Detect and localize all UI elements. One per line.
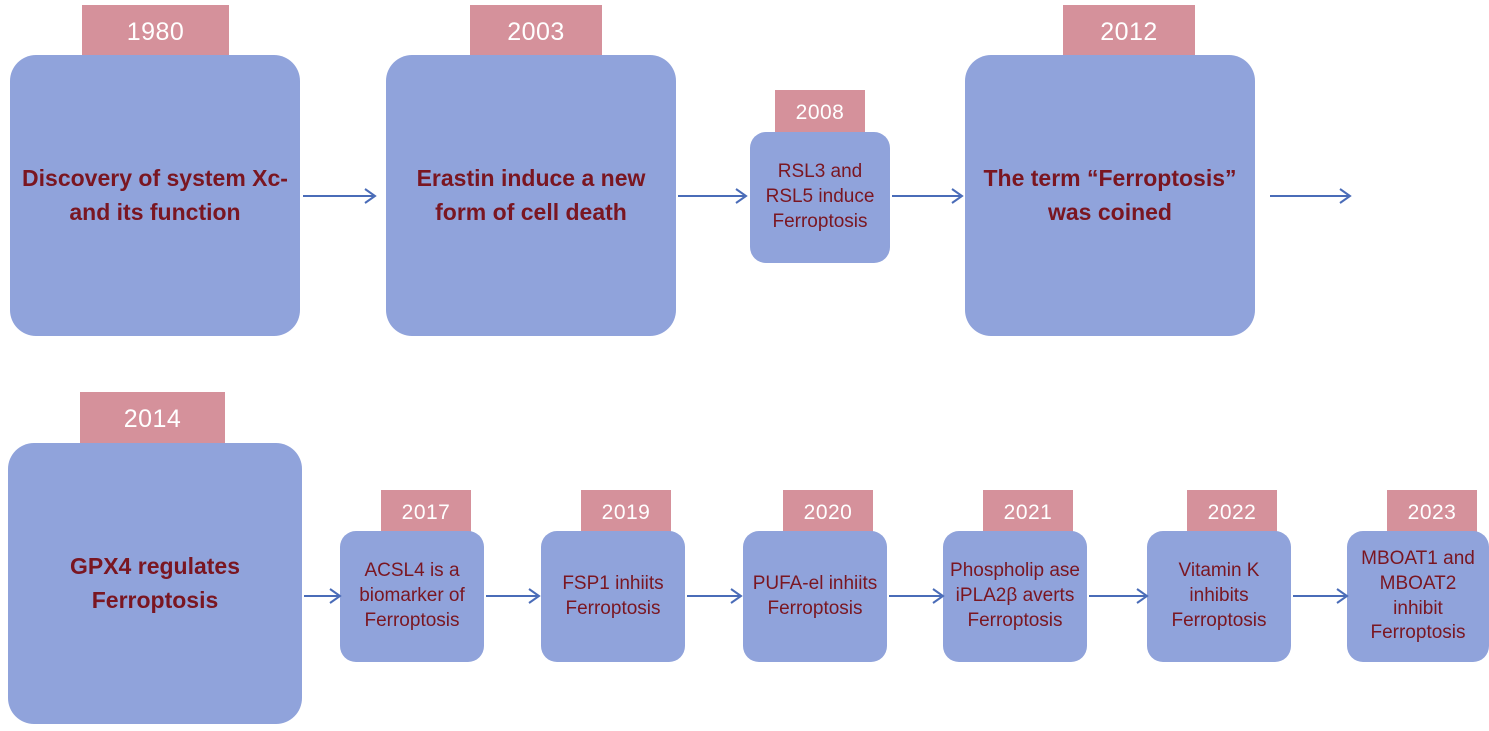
node-box-2020[interactable]: PUFA-el inhiits Ferroptosis — [743, 531, 887, 662]
arrow-2012-continuation — [1270, 188, 1360, 204]
arrow-2020-to-2021 — [889, 588, 949, 604]
node-box-2019[interactable]: FSP1 inhiits Ferroptosis — [541, 531, 685, 662]
node-text-2023: MBOAT1 and MBOAT2 inhibit Ferroptosis — [1347, 547, 1489, 646]
year-tab-2017: 2017 — [381, 490, 471, 535]
node-text-2008: RSL3 and RSL5 induce Ferroptosis — [750, 160, 890, 234]
node-text-2021: Phospholip ase iPLA2β averts Ferroptosis — [943, 559, 1087, 633]
year-tab-1980: 1980 — [82, 5, 229, 59]
year-tab-2012: 2012 — [1063, 5, 1195, 59]
year-tab-2019: 2019 — [581, 490, 671, 535]
node-box-2012[interactable]: The term “Ferroptosis” was coined — [965, 55, 1255, 336]
node-text-2019: FSP1 inhiits Ferroptosis — [541, 572, 685, 621]
arrow-2008-to-2012 — [892, 188, 972, 204]
timeline-diagram: 1980 Discovery of system Xc- and its fun… — [0, 0, 1489, 731]
node-box-2008[interactable]: RSL3 and RSL5 induce Ferroptosis — [750, 132, 890, 263]
node-text-2003: Erastin induce a new form of cell death — [386, 162, 676, 229]
node-text-2017: ACSL4 is a biomarker of Ferroptosis — [340, 559, 484, 633]
year-tab-2023: 2023 — [1387, 490, 1477, 535]
year-tab-2022: 2022 — [1187, 490, 1277, 535]
node-box-2003[interactable]: Erastin induce a new form of cell death — [386, 55, 676, 336]
node-box-2023[interactable]: MBOAT1 and MBOAT2 inhibit Ferroptosis — [1347, 531, 1489, 662]
node-box-1980[interactable]: Discovery of system Xc- and its function — [10, 55, 300, 336]
node-box-2017[interactable]: ACSL4 is a biomarker of Ferroptosis — [340, 531, 484, 662]
node-box-2021[interactable]: Phospholip ase iPLA2β averts Ferroptosis — [943, 531, 1087, 662]
year-tab-2020: 2020 — [783, 490, 873, 535]
arrow-2017-to-2019 — [486, 588, 546, 604]
arrow-2014-to-2017 — [304, 588, 354, 604]
arrow-2021-to-2022 — [1089, 588, 1153, 604]
arrow-2003-to-2008 — [678, 188, 758, 204]
arrow-1980-to-2003 — [303, 188, 383, 204]
node-text-2020: PUFA-el inhiits Ferroptosis — [743, 572, 887, 621]
arrow-2022-to-2023 — [1293, 588, 1353, 604]
arrow-2019-to-2020 — [687, 588, 747, 604]
node-text-2014: GPX4 regulates Ferroptosis — [8, 550, 302, 617]
node-text-2012: The term “Ferroptosis” was coined — [965, 162, 1255, 229]
year-tab-2014: 2014 — [80, 392, 225, 446]
node-box-2014[interactable]: GPX4 regulates Ferroptosis — [8, 443, 302, 724]
year-tab-2003: 2003 — [470, 5, 602, 59]
node-text-2022: Vitamin K inhibits Ferroptosis — [1147, 559, 1291, 633]
node-box-2022[interactable]: Vitamin K inhibits Ferroptosis — [1147, 531, 1291, 662]
year-tab-2021: 2021 — [983, 490, 1073, 535]
year-tab-2008: 2008 — [775, 90, 865, 135]
node-text-1980: Discovery of system Xc- and its function — [10, 162, 300, 229]
